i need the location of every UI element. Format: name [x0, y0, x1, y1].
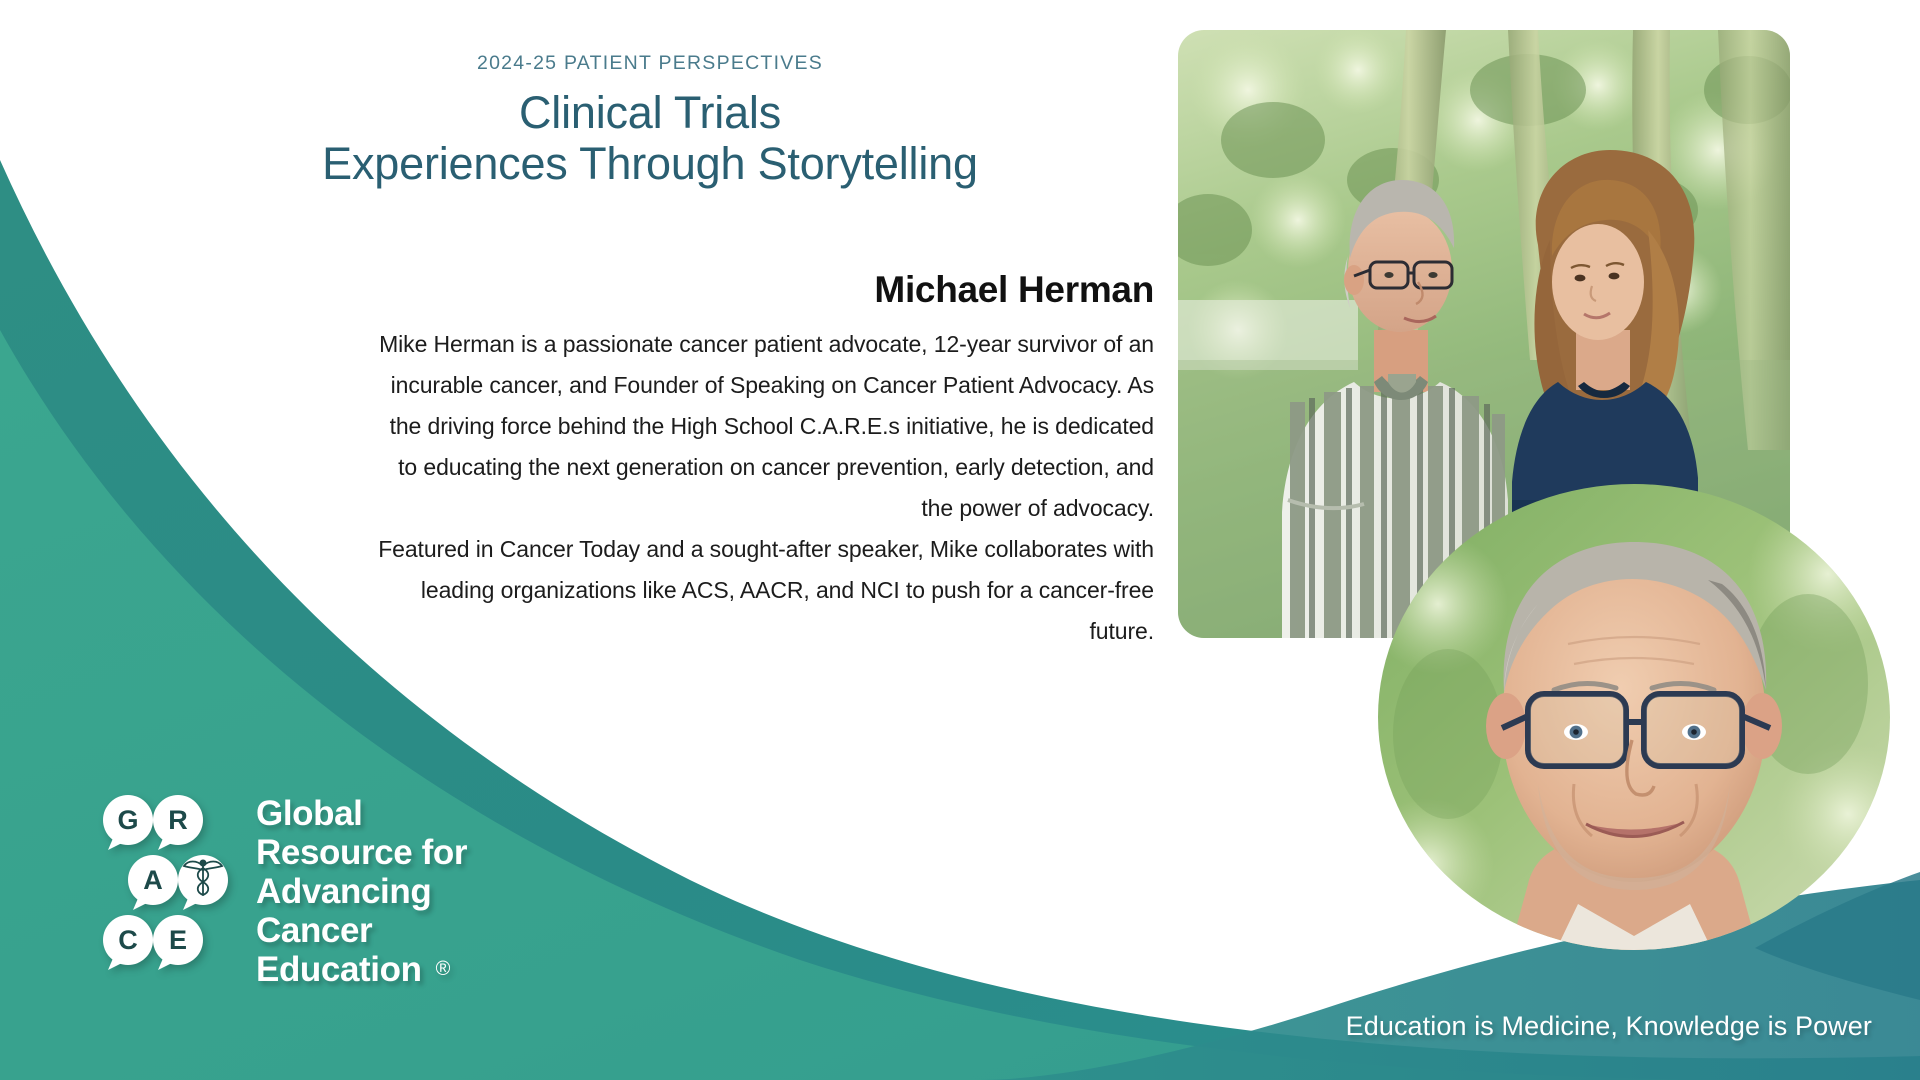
title-line-1: Clinical Trials [519, 87, 781, 138]
registered-trademark-mark: ® [436, 950, 450, 989]
logo-line-5: Education [256, 950, 422, 989]
speaker-bio-paragraph-1: Mike Herman is a passionate cancer patie… [374, 324, 1154, 529]
grace-logo-mark: G R A [100, 792, 230, 972]
speaker-headshot [1378, 484, 1890, 950]
page-title: Clinical Trials Experiences Through Stor… [260, 87, 1040, 189]
logo-letter-a: A [143, 865, 163, 895]
logo-letter-r: R [168, 805, 188, 835]
grace-logo: G R A [100, 792, 467, 989]
logo-line-1: Global [256, 794, 467, 833]
logo-letter-g: G [117, 805, 138, 835]
eyebrow-label: 2024-25 PATIENT PERSPECTIVES [260, 52, 1040, 75]
title-line-2: Experiences Through Storytelling [260, 138, 1040, 189]
logo-letter-c: C [118, 925, 138, 955]
speaker-name: Michael Herman [374, 268, 1154, 312]
grace-logo-wordmark: Global Resource for Advancing Cancer Edu… [256, 792, 467, 989]
speaker-bio-paragraph-2: Featured in Cancer Today and a sought-af… [374, 529, 1154, 652]
logo-line-4: Cancer [256, 911, 467, 950]
logo-line-2: Resource for [256, 833, 467, 872]
logo-line-5-row: Education® [256, 950, 467, 989]
footer-tagline: Education is Medicine, Knowledge is Powe… [1346, 1011, 1872, 1042]
logo-letter-e: E [169, 925, 187, 955]
slide-header: 2024-25 PATIENT PERSPECTIVES Clinical Tr… [260, 52, 1040, 189]
speaker-bio-block: Michael Herman Mike Herman is a passiona… [374, 268, 1154, 652]
logo-line-3: Advancing [256, 872, 467, 911]
slide-canvas: 2024-25 PATIENT PERSPECTIVES Clinical Tr… [0, 0, 1920, 1080]
caduceus-icon [178, 855, 228, 910]
